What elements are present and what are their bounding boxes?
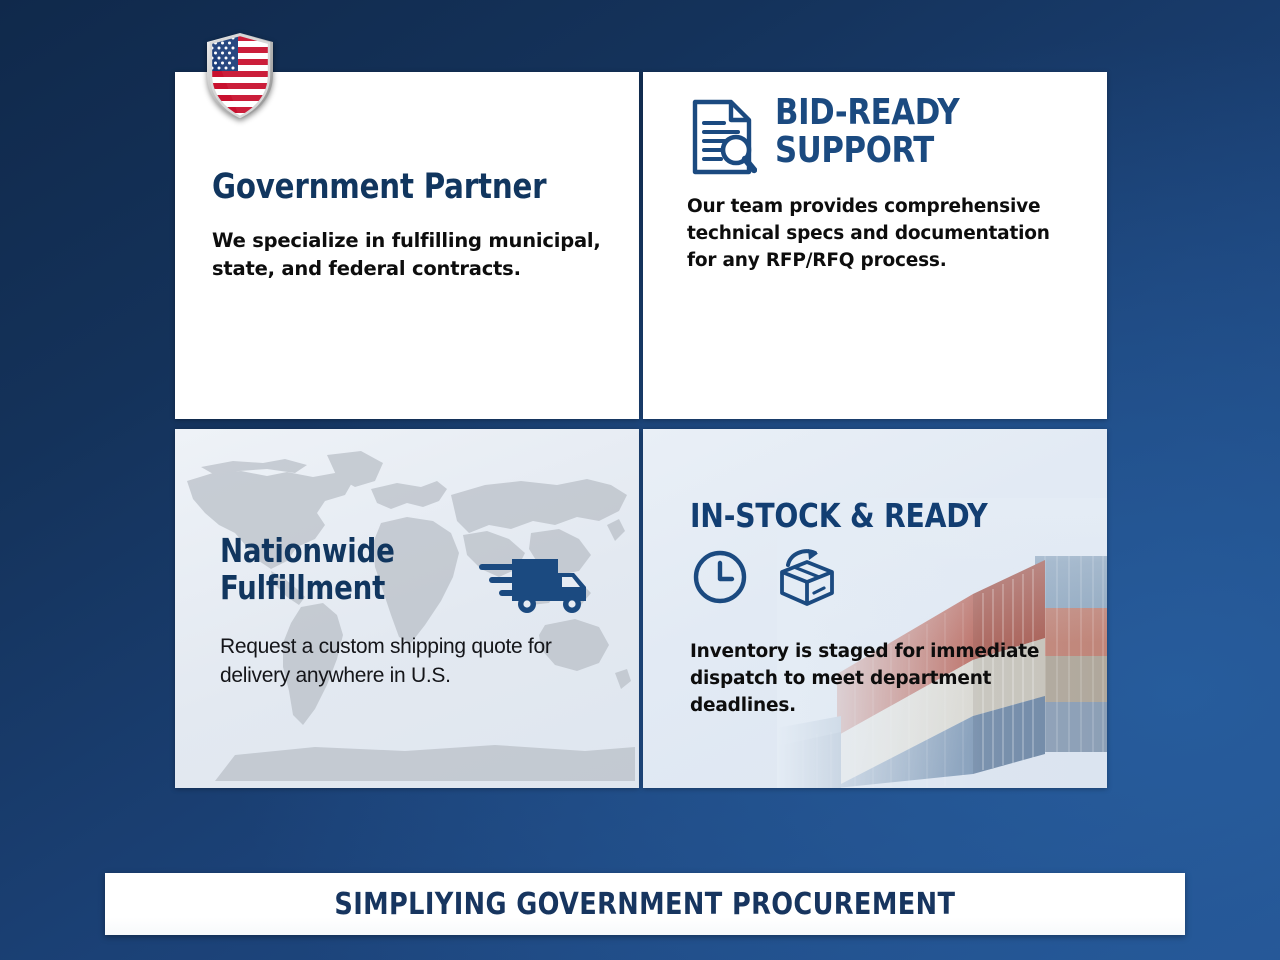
panel-bid-ready-heading: BID-READY SUPPORT <box>775 94 959 170</box>
package-return-icon <box>774 548 840 606</box>
panel-in-stock-heading: IN-STOCK & READY <box>690 499 1063 534</box>
panel-nationwide-content: Nationwide Fulfillment Request a custom … <box>220 533 609 691</box>
us-flag-shield-icon <box>207 33 273 119</box>
panel-bid-ready-content: Our team provides comprehensive technica… <box>687 193 1059 275</box>
infographic-stage: Government Partner We specialize in fulf… <box>0 0 1280 960</box>
bottom-banner[interactable]: SIMPLIYING GOVERNMENT PROCUREMENT <box>105 873 1185 935</box>
panel-nationwide-heading-line2: Fulfillment <box>220 568 385 607</box>
feature-panel-grid: Government Partner We specialize in fulf… <box>175 72 1107 788</box>
panel-government-partner-content: Government Partner We specialize in fulf… <box>212 170 613 282</box>
panel-bid-ready-title-block: BID-READY SUPPORT <box>775 94 969 170</box>
panel-in-stock-body: Inventory is staged for immediate dispat… <box>690 638 1083 720</box>
panel-in-stock-content: IN-STOCK & READY <box>690 499 1083 720</box>
panel-bid-ready-body: Our team provides comprehensive technica… <box>687 193 1059 275</box>
panel-bid-ready-heading-line1: BID-READY <box>775 92 959 133</box>
document-magnifier-icon <box>689 98 757 176</box>
panel-nationwide-body: Request a custom shipping quote for deli… <box>220 633 609 691</box>
panel-bid-ready-heading-line2: SUPPORT <box>775 130 934 171</box>
panel-government-partner-body: We specialize in fulfilling municipal, s… <box>212 227 613 282</box>
panel-bid-ready-header: BID-READY SUPPORT <box>689 94 969 176</box>
panel-government-partner-heading: Government Partner <box>212 170 585 205</box>
panel-nationwide-fulfillment[interactable]: Nationwide Fulfillment Request a custom … <box>175 429 639 788</box>
banner-tagline: SIMPLIYING GOVERNMENT PROCUREMENT <box>334 887 955 922</box>
clock-icon <box>692 549 748 605</box>
panel-in-stock-ready[interactable]: IN-STOCK & READY <box>643 429 1107 788</box>
panel-bid-ready-support[interactable]: BID-READY SUPPORT Our team provides comp… <box>643 72 1107 419</box>
panel-government-partner[interactable]: Government Partner We specialize in fulf… <box>175 72 639 419</box>
panel-nationwide-heading: Nationwide Fulfillment <box>220 533 582 607</box>
panel-in-stock-icon-row <box>692 548 1083 606</box>
panel-nationwide-heading-line1: Nationwide <box>220 531 395 570</box>
